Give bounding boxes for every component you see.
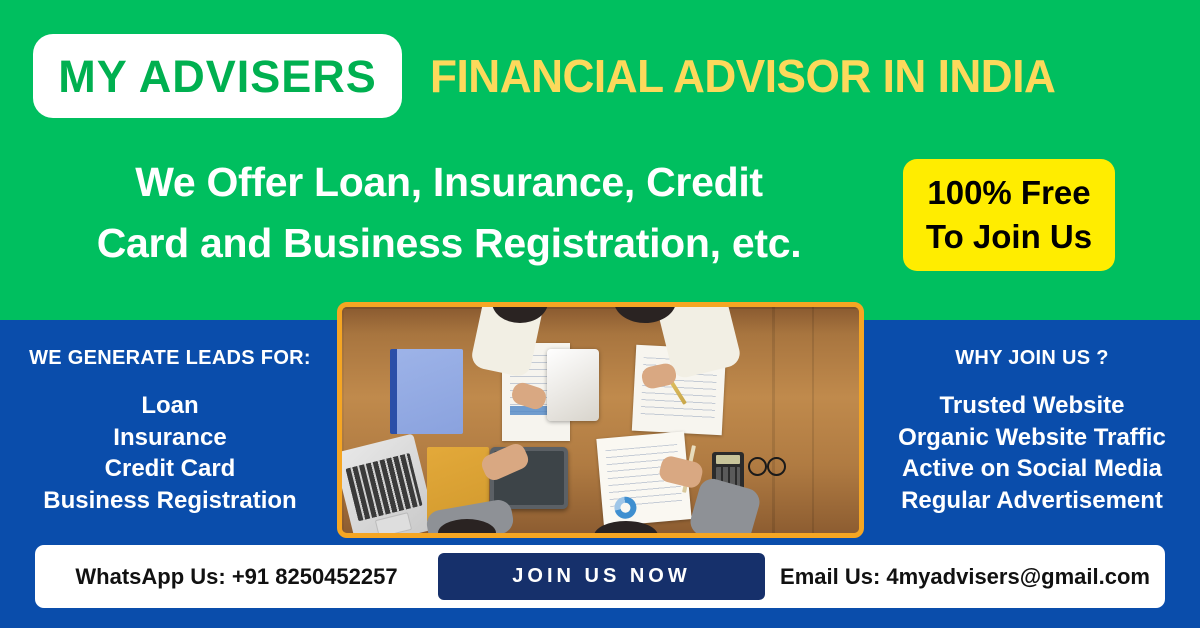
team-meeting-photo bbox=[337, 302, 864, 538]
why-join-item-social-media: Active on Social Media bbox=[876, 453, 1188, 485]
wood-grain-line bbox=[772, 307, 775, 533]
join-us-now-button[interactable]: JOIN US NOW bbox=[438, 553, 765, 600]
why-join-item-organic-traffic: Organic Website Traffic bbox=[876, 422, 1188, 454]
brand-name: MY ADVISERS bbox=[58, 54, 377, 99]
why-join-item-advertisement: Regular Advertisement bbox=[876, 485, 1188, 517]
laptop-keyboard bbox=[345, 453, 422, 521]
eyeglasses-object bbox=[748, 455, 786, 475]
why-join-column: WHY JOIN US ? Trusted Website Organic We… bbox=[876, 348, 1188, 517]
free-badge-line-1: 100% Free bbox=[927, 171, 1090, 215]
free-to-join-badge: 100% Free To Join Us bbox=[903, 159, 1115, 271]
page-title: FINANCIAL ADVISOR IN INDIA bbox=[430, 44, 1121, 108]
offer-line-2: Card and Business Registration, etc. bbox=[34, 213, 864, 274]
white-tablet-object bbox=[547, 349, 599, 421]
leads-column: WE GENERATE LEADS FOR: Loan Insurance Cr… bbox=[14, 348, 326, 517]
sleeve bbox=[687, 476, 763, 538]
email-contact[interactable]: Email Us: 4myadvisers@gmail.com bbox=[765, 564, 1165, 590]
why-join-item-trusted-website: Trusted Website bbox=[876, 390, 1188, 422]
contact-bar: WhatsApp Us: +91 8250452257 JOIN US NOW … bbox=[35, 545, 1165, 608]
wood-grain-line bbox=[812, 307, 814, 533]
offer-line-1: We Offer Loan, Insurance, Credit bbox=[34, 152, 864, 213]
why-join-column-title: WHY JOIN US ? bbox=[876, 348, 1188, 368]
leads-item-business-registration: Business Registration bbox=[14, 485, 326, 517]
laptop-trackpad bbox=[375, 512, 412, 538]
calculator-screen bbox=[716, 455, 740, 464]
photo-wood-table-background bbox=[342, 307, 859, 533]
laptop-object bbox=[337, 434, 437, 538]
whatsapp-contact[interactable]: WhatsApp Us: +91 8250452257 bbox=[35, 564, 438, 590]
promotional-banner: MY ADVISERS FINANCIAL ADVISOR IN INDIA W… bbox=[0, 0, 1200, 628]
leads-item-credit-card: Credit Card bbox=[14, 453, 326, 485]
brand-logo-badge: MY ADVISERS bbox=[33, 34, 402, 118]
leads-item-insurance: Insurance bbox=[14, 422, 326, 454]
free-badge-line-2: To Join Us bbox=[926, 215, 1092, 259]
leads-column-title: WE GENERATE LEADS FOR: bbox=[14, 348, 326, 368]
blue-folder-object bbox=[390, 349, 463, 434]
leads-item-loan: Loan bbox=[14, 390, 326, 422]
wood-grain-line bbox=[342, 307, 859, 309]
offer-statement: We Offer Loan, Insurance, Credit Card an… bbox=[34, 152, 864, 273]
